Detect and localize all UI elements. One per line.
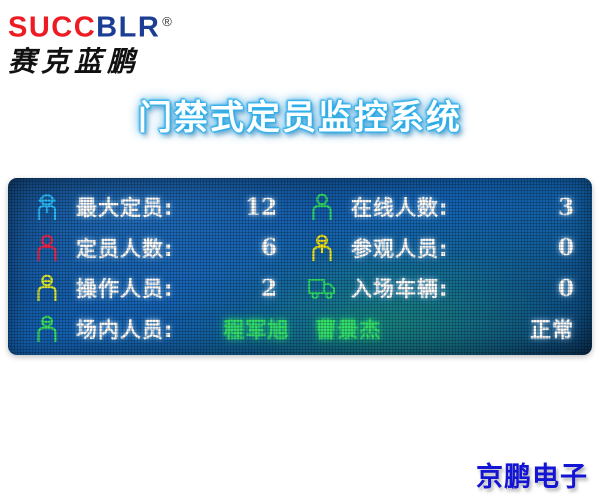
led-row: 最大定员: 12 在线人数: 3 [8, 187, 592, 228]
led-display-panel: 最大定员: 12 在线人数: 3 [8, 178, 592, 355]
led-value: 6 [261, 234, 277, 261]
led-value: 0 [558, 234, 574, 261]
led-label: 参观人员: [351, 233, 448, 263]
person-red-icon [32, 232, 62, 264]
led-label: 场内人员: [76, 314, 173, 344]
led-row: 定员人数: 6 参观人员: 0 [8, 228, 592, 269]
led-row-onsite-personnel: 场内人员: 程军旭 曹景杰 正常 [8, 309, 592, 350]
led-value: 0 [558, 275, 574, 302]
brand-wordmark: SUCCBLR® [8, 6, 208, 44]
led-field-visitor-count: 参观人员: 0 [299, 232, 592, 264]
person-onsite-icon [32, 313, 62, 345]
person-visitor-icon [307, 232, 337, 264]
led-field-online-count: 在线人数: 3 [299, 191, 592, 223]
page-title: 门禁式定员监控系统 [0, 90, 600, 139]
registered-trademark-icon: ® [162, 14, 173, 29]
list-item: 程军旭 [223, 314, 289, 344]
led-field-vehicle-count: 入场车辆: 0 [299, 272, 592, 304]
wordmark-blr: BLR [96, 12, 160, 44]
footer-company-name: 京鹏电子 [476, 455, 588, 494]
led-label: 在线人数: [351, 192, 448, 222]
led-field-registered-count: 定员人数: 6 [8, 232, 299, 264]
truck-icon [307, 272, 337, 304]
led-label: 定员人数: [76, 233, 173, 263]
person-icon [307, 191, 337, 223]
led-field-max-capacity: 最大定员: 12 [8, 191, 299, 223]
led-value: 12 [245, 194, 277, 221]
led-label: 最大定员: [76, 192, 173, 222]
led-label: 操作人员: [76, 273, 173, 303]
onsite-names-list: 程军旭 曹景杰 [187, 314, 530, 344]
person-helmet-icon [32, 191, 62, 223]
led-value: 3 [558, 194, 574, 221]
brand-chinese-name: 赛克蓝鹏 [8, 45, 208, 79]
brand-logo: SUCCBLR® 赛克蓝鹏 [8, 6, 208, 76]
led-label: 入场车辆: [351, 273, 448, 303]
person-operator-icon [32, 272, 62, 304]
list-item: 曹景杰 [315, 314, 381, 344]
led-value: 2 [261, 275, 277, 302]
led-row: 操作人员: 2 入场车辆: 0 [8, 268, 592, 309]
status-badge: 正常 [530, 314, 574, 344]
led-field-operator-count: 操作人员: 2 [8, 272, 299, 304]
wordmark-succ: SUCC [8, 12, 96, 44]
